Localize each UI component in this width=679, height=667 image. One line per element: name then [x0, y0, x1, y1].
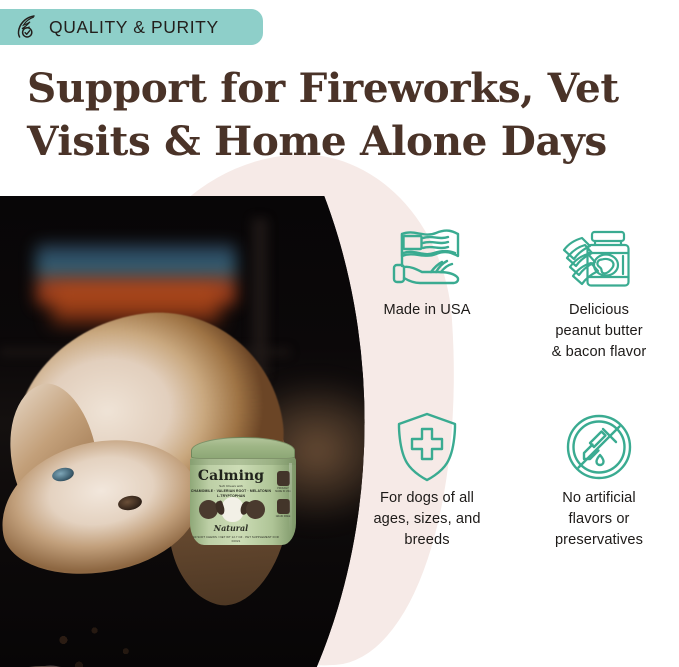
feature-label-line: preservatives	[524, 530, 674, 551]
blurred-shelf-post	[252, 218, 268, 378]
headline-line-1: Support for Fireworks, Vet	[27, 64, 619, 112]
feature-grid: Made in USA	[352, 218, 679, 578]
feature-label-line: peanut butter	[524, 321, 674, 342]
jar-glass-highlight	[289, 463, 292, 537]
jar-seal-badge-right	[246, 500, 265, 519]
dog-muzzle-spots	[40, 616, 170, 667]
feature-label-line: Made in USA	[352, 300, 502, 321]
feature-peanut-butter-bacon: Delicious peanut butter & bacon flavor	[524, 218, 674, 363]
feature-made-in-usa: Made in USA	[352, 218, 502, 321]
feature-no-artificial: No artificial flavors or preservatives	[524, 406, 674, 551]
shield-medical-cross-icon	[352, 406, 502, 488]
headline-line-2: Visits & Home Alone Days	[27, 115, 677, 168]
jar-label-stripe	[190, 459, 296, 465]
feature-label: No artificial flavors or preservatives	[524, 488, 674, 551]
paw-badge-icon	[277, 471, 290, 486]
jar-product-name: Calming	[190, 468, 272, 484]
quality-purity-badge: QUALITY & PURITY	[0, 9, 263, 45]
feature-label-line: For dogs of all	[352, 488, 502, 509]
feature-label-line: No artificial	[524, 488, 674, 509]
usa-flag-in-hand-icon	[352, 218, 502, 300]
leaf-feather-icon	[14, 14, 38, 40]
feature-label-line: breeds	[352, 530, 502, 551]
no-dropper-icon	[524, 406, 674, 488]
product-infographic-page: Calming Soft Chews with CHAMOMILE · VALE…	[0, 0, 679, 667]
feature-label-line: ages, sizes, and	[352, 509, 502, 530]
feature-label: Delicious peanut butter & bacon flavor	[524, 300, 674, 363]
grain-badge-icon	[277, 499, 290, 514]
jar-natural-label: Natural	[190, 523, 272, 533]
quality-purity-label: QUALITY & PURITY	[49, 17, 219, 38]
feature-label: Made in USA	[352, 300, 502, 321]
peanut-butter-jar-bacon-icon	[524, 218, 674, 300]
jar-bottom-text: 90 SOFT CHEWS / NET WT 12.7 OZ · PET SUP…	[190, 535, 282, 543]
feature-label-line: Delicious	[524, 300, 674, 321]
feature-label-line: flavors or	[524, 509, 674, 530]
jar-ingredients-line-1: CHAMOMILE · VALERIAN ROOT · MELATONIN	[190, 489, 272, 493]
feature-all-dogs: For dogs of all ages, sizes, and breeds	[352, 406, 502, 551]
jar-tagline: Soft Chews with	[190, 484, 272, 488]
page-title: Support for Fireworks, Vet Visits & Home…	[27, 62, 677, 169]
product-lifestyle-photo	[0, 196, 372, 667]
product-jar: Calming Soft Chews with CHAMOMILE · VALE…	[190, 437, 296, 545]
jar-dog-face-logo	[221, 497, 244, 522]
feature-label: For dogs of all ages, sizes, and breeds	[352, 488, 502, 551]
jar-lid	[191, 437, 295, 459]
feature-label-line: & bacon flavor	[524, 342, 674, 363]
